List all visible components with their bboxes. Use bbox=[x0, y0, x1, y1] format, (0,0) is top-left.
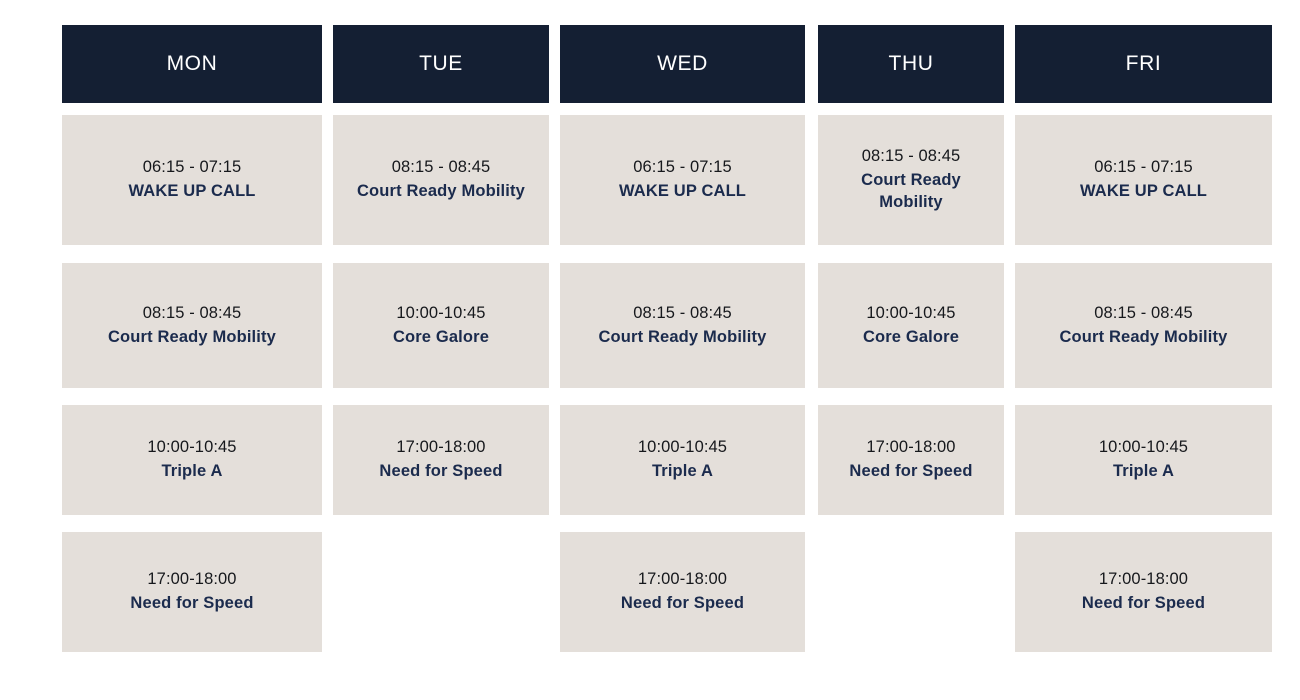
session-title: Court Ready Mobility bbox=[108, 327, 276, 349]
session-time: 06:15 - 07:15 bbox=[1094, 157, 1193, 179]
session-cell-fri-4[interactable]: 17:00-18:00 Need for Speed bbox=[1015, 532, 1272, 652]
session-time: 10:00-10:45 bbox=[1099, 437, 1188, 459]
session-title: WAKE UP CALL bbox=[619, 181, 746, 203]
session-time: 10:00-10:45 bbox=[638, 437, 727, 459]
day-header-mon: MON bbox=[62, 25, 322, 103]
session-cell-thu-4-empty bbox=[818, 532, 1004, 652]
session-cell-mon-3[interactable]: 10:00-10:45 Triple A bbox=[62, 405, 322, 515]
session-cell-thu-1[interactable]: 08:15 - 08:45 Court Ready Mobility bbox=[818, 115, 1004, 245]
day-header-label: FRI bbox=[1126, 52, 1162, 76]
session-time: 06:15 - 07:15 bbox=[143, 157, 242, 179]
session-cell-wed-1[interactable]: 06:15 - 07:15 WAKE UP CALL bbox=[560, 115, 805, 245]
session-cell-tue-1[interactable]: 08:15 - 08:45 Court Ready Mobility bbox=[333, 115, 549, 245]
session-time: 10:00-10:45 bbox=[866, 303, 955, 325]
session-title: Need for Speed bbox=[621, 593, 744, 615]
session-cell-thu-3[interactable]: 17:00-18:00 Need for Speed bbox=[818, 405, 1004, 515]
session-title: Need for Speed bbox=[1082, 593, 1205, 615]
day-header-tue: TUE bbox=[333, 25, 549, 103]
session-title: Court Ready Mobility bbox=[1059, 327, 1227, 349]
session-title: Court Ready Mobility bbox=[598, 327, 766, 349]
session-time: 06:15 - 07:15 bbox=[633, 157, 732, 179]
session-title: Core Galore bbox=[393, 327, 489, 349]
session-time: 08:15 - 08:45 bbox=[143, 303, 242, 325]
session-time: 17:00-18:00 bbox=[866, 437, 955, 459]
session-cell-thu-2[interactable]: 10:00-10:45 Core Galore bbox=[818, 263, 1004, 388]
session-time: 17:00-18:00 bbox=[638, 569, 727, 591]
session-cell-fri-3[interactable]: 10:00-10:45 Triple A bbox=[1015, 405, 1272, 515]
session-time: 17:00-18:00 bbox=[1099, 569, 1188, 591]
session-time: 08:15 - 08:45 bbox=[392, 157, 491, 179]
session-cell-wed-2[interactable]: 08:15 - 08:45 Court Ready Mobility bbox=[560, 263, 805, 388]
session-cell-mon-1[interactable]: 06:15 - 07:15 WAKE UP CALL bbox=[62, 115, 322, 245]
day-header-wed: WED bbox=[560, 25, 805, 103]
day-header-fri: FRI bbox=[1015, 25, 1272, 103]
session-cell-wed-3[interactable]: 10:00-10:45 Triple A bbox=[560, 405, 805, 515]
session-cell-wed-4[interactable]: 17:00-18:00 Need for Speed bbox=[560, 532, 805, 652]
day-header-label: THU bbox=[889, 52, 934, 76]
session-title: Need for Speed bbox=[379, 461, 502, 483]
session-time: 08:15 - 08:45 bbox=[1094, 303, 1193, 325]
session-title: Triple A bbox=[652, 461, 713, 483]
weekly-schedule-grid: MON TUE WED THU FRI 06:15 - 07:15 WAKE U… bbox=[0, 0, 1300, 700]
session-cell-tue-2[interactable]: 10:00-10:45 Core Galore bbox=[333, 263, 549, 388]
session-title: Court Ready Mobility bbox=[357, 181, 525, 203]
session-cell-tue-3[interactable]: 17:00-18:00 Need for Speed bbox=[333, 405, 549, 515]
session-cell-mon-4[interactable]: 17:00-18:00 Need for Speed bbox=[62, 532, 322, 652]
session-cell-fri-1[interactable]: 06:15 - 07:15 WAKE UP CALL bbox=[1015, 115, 1272, 245]
day-header-label: TUE bbox=[419, 52, 463, 76]
session-time: 17:00-18:00 bbox=[147, 569, 236, 591]
day-header-label: MON bbox=[167, 52, 218, 76]
session-cell-tue-4-empty bbox=[333, 532, 549, 652]
session-title: Triple A bbox=[1113, 461, 1174, 483]
session-time: 17:00-18:00 bbox=[396, 437, 485, 459]
session-title: WAKE UP CALL bbox=[1080, 181, 1207, 203]
session-time: 10:00-10:45 bbox=[396, 303, 485, 325]
session-title: WAKE UP CALL bbox=[128, 181, 255, 203]
day-header-label: WED bbox=[657, 52, 708, 76]
session-title: Need for Speed bbox=[849, 461, 972, 483]
session-cell-fri-2[interactable]: 08:15 - 08:45 Court Ready Mobility bbox=[1015, 263, 1272, 388]
session-time: 10:00-10:45 bbox=[147, 437, 236, 459]
session-title: Court Ready Mobility bbox=[828, 170, 994, 214]
session-cell-mon-2[interactable]: 08:15 - 08:45 Court Ready Mobility bbox=[62, 263, 322, 388]
session-title: Need for Speed bbox=[130, 593, 253, 615]
session-time: 08:15 - 08:45 bbox=[633, 303, 732, 325]
session-title: Triple A bbox=[161, 461, 222, 483]
session-time: 08:15 - 08:45 bbox=[862, 146, 961, 168]
session-title: Core Galore bbox=[863, 327, 959, 349]
day-header-thu: THU bbox=[818, 25, 1004, 103]
